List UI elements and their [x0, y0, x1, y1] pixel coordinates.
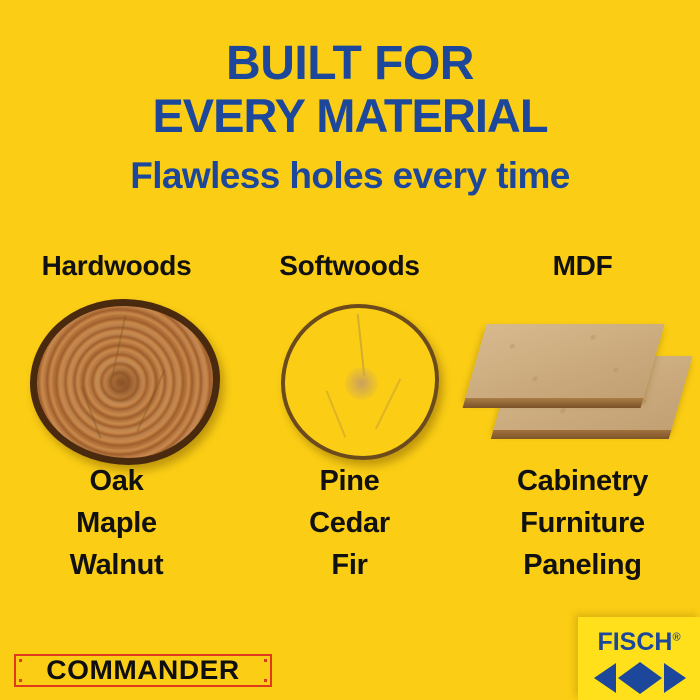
fisch-wordmark-text: FISCH: [597, 628, 672, 656]
list-item: Paneling: [466, 544, 699, 586]
commander-wordmark: COMMANDER: [11, 656, 275, 685]
column-hardwoods: Hardwoods Oak Maple Walnut: [0, 250, 233, 590]
fisch-logo-panel: FISCH®: [578, 617, 700, 700]
pine-heartwood: [345, 367, 378, 400]
oak-slice-shape: [30, 299, 220, 465]
mdf-board-upper-edge: [463, 398, 644, 408]
column-list-softwoods: Pine Cedar Fir: [233, 460, 466, 586]
column-title-mdf: MDF: [466, 250, 699, 282]
material-columns: Hardwoods Oak Maple Walnut Softwoods: [0, 250, 700, 590]
list-item: Fir: [233, 544, 466, 586]
list-item: Cabinetry: [466, 460, 699, 502]
list-item: Furniture: [466, 502, 699, 544]
fisch-wordmark: FISCH®: [578, 628, 700, 657]
oak-log-slice-image: [0, 298, 233, 456]
list-item: Walnut: [0, 544, 233, 586]
headline-line-1: BUILT FOR: [0, 38, 700, 90]
list-item: Maple: [0, 502, 233, 544]
column-title-softwoods: Softwoods: [233, 250, 466, 282]
list-item: Cedar: [233, 502, 466, 544]
fisch-fish-logo: [594, 661, 686, 695]
poster-canvas: BUILT FOR EVERY MATERIAL Flawless holes …: [0, 0, 700, 700]
mdf-boards-image: [466, 298, 699, 456]
subheadline: Flawless holes every time: [0, 155, 700, 197]
column-mdf: MDF Cabinetry Furniture Paneling: [466, 250, 699, 590]
column-softwoods: Softwoods Pine Cedar Fir: [233, 250, 466, 590]
commander-logo: COMMANDER: [14, 654, 272, 687]
mdf-board-lower-edge: [491, 430, 672, 439]
list-item: Pine: [233, 460, 466, 502]
oak-heartwood: [100, 364, 146, 404]
headline-block: BUILT FOR EVERY MATERIAL: [0, 38, 700, 142]
list-item: Oak: [0, 460, 233, 502]
pine-log-slice-image: [233, 298, 466, 456]
pine-slice-shape: [281, 304, 439, 460]
registered-mark-icon: ®: [672, 632, 680, 644]
column-title-hardwoods: Hardwoods: [0, 250, 233, 282]
headline-line-2: EVERY MATERIAL: [0, 90, 700, 142]
column-list-hardwoods: Oak Maple Walnut: [0, 460, 233, 586]
mdf-board-upper: [465, 324, 664, 398]
column-list-mdf: Cabinetry Furniture Paneling: [466, 460, 699, 586]
